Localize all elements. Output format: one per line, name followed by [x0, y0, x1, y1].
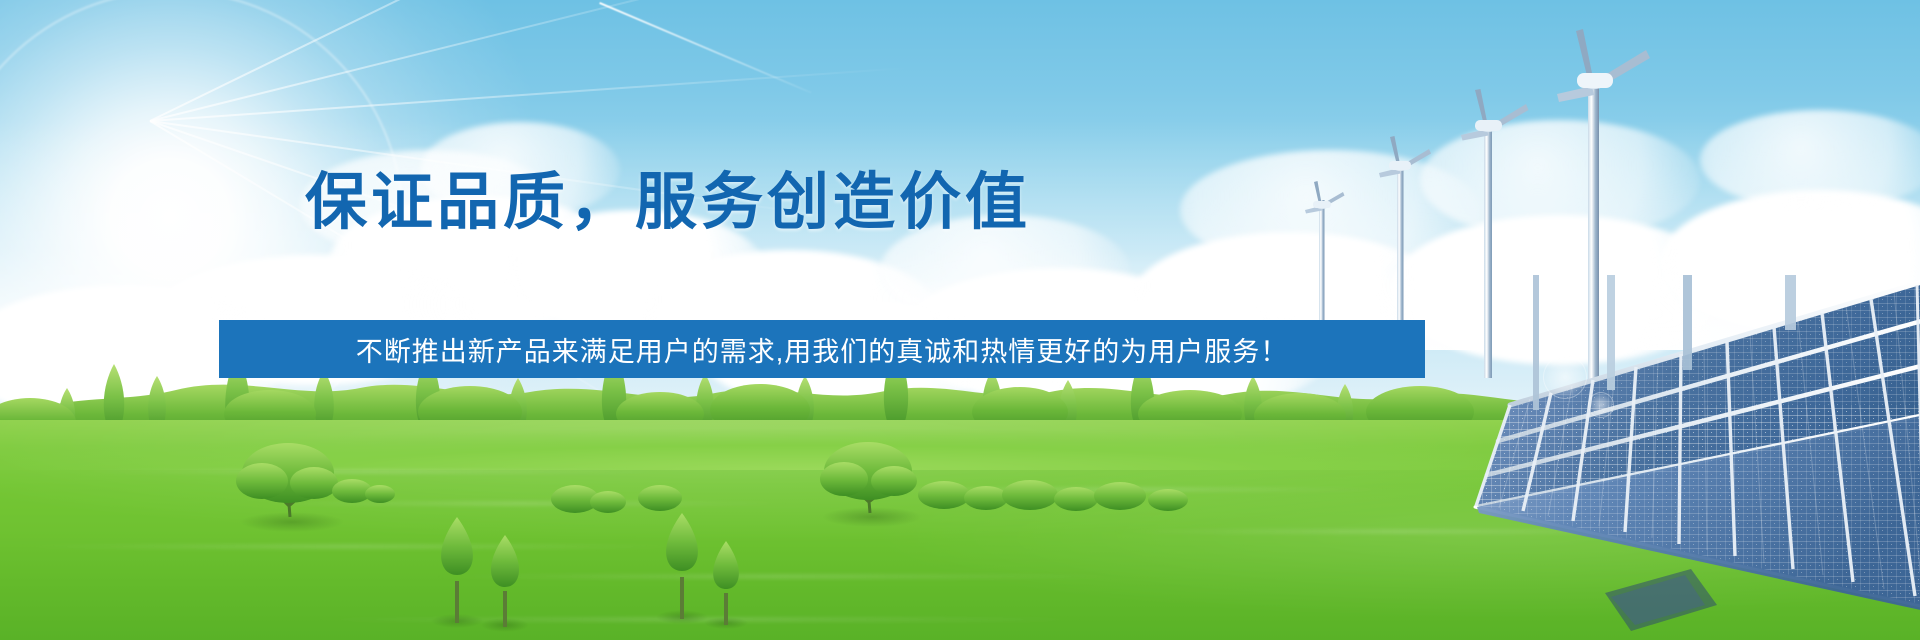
subtitle-text: 不断推出新产品来满足用户的需求,用我们的真诚和热情更好的为用户服务！: [356, 330, 1289, 369]
page-title: 保证品质，服务创造价值: [305, 172, 1031, 234]
subtitle-bar: 不断推出新产品来满足用户的需求,用我们的真诚和热情更好的为用户服务！: [219, 320, 1425, 378]
hero-banner: 保证品质，服务创造价值 不断推出新产品来满足用户的需求,用我们的真诚和热情更好的…: [0, 0, 1920, 640]
meadow-trees: [0, 395, 1920, 640]
